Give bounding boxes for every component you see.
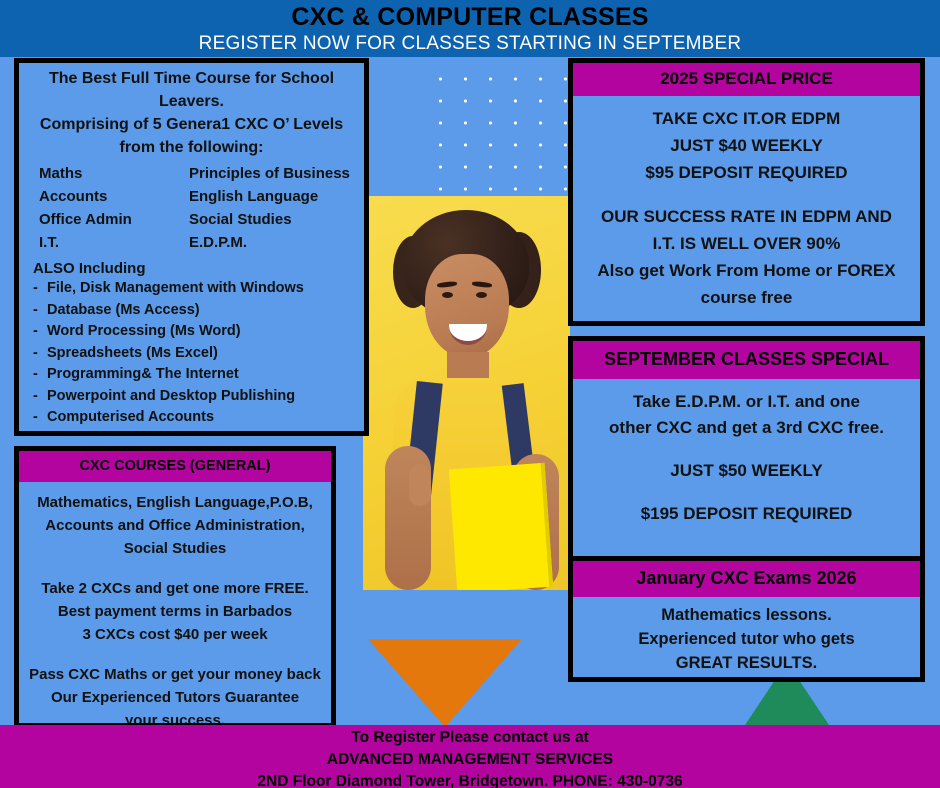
list-item: -Spreadsheets (Ms Excel) [25, 343, 358, 365]
courses-line: Accounts and Office Administration, [25, 514, 325, 537]
january-panel-title: January CXC Exams 2026 [573, 561, 920, 597]
footer-line-1: To Register Please contact us at [0, 725, 940, 749]
list-item: -Powerpoint and Desktop Publishing [25, 386, 358, 408]
courses-line: Our Experienced Tutors Guarantee [25, 686, 325, 709]
also-including-list: -File, Disk Management with Windows -Dat… [25, 278, 358, 436]
page-title: CXC & COMPUTER CLASSES [0, 0, 940, 32]
list-item-label: Word Processing (Ms Word) [47, 323, 241, 339]
header-band: CXC & COMPUTER CLASSES REGISTER NOW FOR … [0, 0, 940, 57]
dash-icon: - [33, 321, 38, 343]
student-photo [363, 196, 570, 590]
list-item-label: Programming& The Internet [47, 366, 239, 382]
spacer [579, 484, 914, 501]
dot-grid-decoration [424, 62, 574, 197]
price-line: OUR SUCCESS RATE IN EDPM AND [577, 203, 916, 230]
list-item: -Computerised Accounts [25, 407, 358, 429]
cxc-courses-general-panel: CXC COURSES (GENERAL) Mathematics, Engli… [14, 446, 336, 728]
flyer-canvas: CXC & COMPUTER CLASSES REGISTER NOW FOR … [0, 0, 940, 788]
headline-line-2: Comprising of 5 Genera1 CXC O’ Levels [25, 113, 358, 136]
list-item-label: Spreadsheets (Ms Excel) [47, 345, 218, 361]
list-item-label: Database (Ms Access) [47, 302, 200, 318]
headline-line-1: The Best Full Time Course for School Lea… [49, 70, 334, 110]
list-item: -Programming& The Internet [25, 364, 358, 386]
headline-line-3: from the following: [25, 136, 358, 159]
september-panel-title: SEPTEMBER CLASSES SPECIAL [573, 341, 920, 379]
january-exams-panel: January CXC Exams 2026 Mathematics lesso… [568, 556, 925, 682]
list-item-label: Computer Repair and Maintenance [47, 431, 286, 437]
course-headline: The Best Full Time Course for School Lea… [25, 67, 358, 159]
courses-line: Best payment terms in Barbados [25, 600, 325, 623]
dash-icon: - [33, 278, 38, 300]
list-item: -File, Disk Management with Windows [25, 278, 358, 300]
january-line: GREAT RESULTS. [579, 651, 914, 675]
thumbs-up-icon [409, 464, 431, 506]
dash-icon: - [33, 364, 38, 386]
courses-panel-title: CXC COURSES (GENERAL) [19, 451, 331, 482]
list-item-label: Computerised Accounts [47, 409, 214, 425]
september-panel-body: Take E.D.P.M. or I.T. and one other CXC … [573, 379, 920, 527]
subject-columns: Maths Accounts Office Admin I.T. Princip… [25, 162, 358, 254]
footer-contact-band: To Register Please contact us at ADVANCE… [0, 725, 940, 788]
list-item: -Word Processing (Ms Word) [25, 321, 358, 343]
list-item: -Database (Ms Access) [25, 300, 358, 322]
eye-left-icon [442, 292, 453, 298]
eye-right-icon [476, 292, 487, 298]
january-line: Mathematics lessons. [579, 603, 914, 627]
list-item: -Computer Repair and Maintenance [25, 429, 358, 437]
september-special-panel: SEPTEMBER CLASSES SPECIAL Take E.D.P.M. … [568, 336, 925, 564]
list-item-label: File, Disk Management with Windows [47, 280, 304, 296]
footer-organization: ADVANCED MANAGEMENT SERVICES [0, 749, 940, 771]
list-item-label: Powerpoint and Desktop Publishing [47, 388, 295, 404]
september-deposit-line: $195 DEPOSIT REQUIRED [579, 501, 914, 527]
courses-line: Pass CXC Maths or get your money back [25, 663, 325, 686]
subject-item: Social Studies [189, 208, 350, 231]
subject-item: Accounts [39, 185, 189, 208]
price-line: I.T. IS WELL OVER 90% [577, 230, 916, 257]
subject-column-left: Maths Accounts Office Admin I.T. [39, 162, 189, 254]
subject-item: E.D.P.M. [189, 231, 350, 254]
subject-item: Principles of Business [189, 162, 350, 185]
price-panel-title: 2025 SPECIAL PRICE [573, 63, 920, 96]
courses-line: Take 2 CXCs and get one more FREE. [25, 577, 325, 600]
price-line: Also get Work From Home or FOREX [577, 257, 916, 284]
footer-address-phone: 2ND Floor Diamond Tower, Bridgetown. PHO… [0, 771, 940, 788]
september-line: other CXC and get a 3rd CXC free. [579, 415, 914, 441]
special-price-panel: 2025 SPECIAL PRICE TAKE CXC IT.OR EDPM J… [568, 58, 925, 326]
dash-icon: - [33, 407, 38, 429]
september-price-line: JUST $50 WEEKLY [579, 458, 914, 484]
price-line: course free [577, 284, 916, 311]
january-panel-body: Mathematics lessons. Experienced tutor w… [573, 597, 920, 675]
price-panel-body: TAKE CXC IT.OR EDPM JUST $40 WEEKLY $95 … [573, 96, 920, 311]
subject-column-right: Principles of Business English Language … [189, 162, 350, 254]
full-time-course-panel: The Best Full Time Course for School Lea… [14, 58, 369, 436]
courses-panel-body: Mathematics, English Language,P.O.B, Acc… [19, 482, 331, 728]
subject-item: Maths [39, 162, 189, 185]
dash-icon: - [33, 386, 38, 408]
price-line: $95 DEPOSIT REQUIRED [577, 159, 916, 186]
spacer [577, 186, 916, 203]
spacer [25, 646, 325, 663]
courses-line: Mathematics, English Language,P.O.B, [25, 491, 325, 514]
september-line: Take E.D.P.M. or I.T. and one [579, 389, 914, 415]
courses-line: 3 CXCs cost $40 per week [25, 623, 325, 646]
price-line: TAKE CXC IT.OR EDPM [577, 105, 916, 132]
price-line: JUST $40 WEEKLY [577, 132, 916, 159]
dash-icon: - [33, 300, 38, 322]
subject-item: English Language [189, 185, 350, 208]
also-including-heading: ALSO Including [33, 260, 358, 277]
dash-icon: - [33, 429, 38, 437]
subject-item: I.T. [39, 231, 189, 254]
header-subtitle: REGISTER NOW FOR CLASSES STARTING IN SEP… [0, 32, 940, 56]
spacer [25, 560, 325, 577]
january-line: Experienced tutor who gets [579, 627, 914, 651]
spacer [579, 441, 914, 458]
dash-icon: - [33, 343, 38, 365]
orange-triangle-decoration [368, 639, 522, 727]
courses-line: Social Studies [25, 537, 325, 560]
yellow-book-icon [449, 463, 553, 590]
subject-item: Office Admin [39, 208, 189, 231]
